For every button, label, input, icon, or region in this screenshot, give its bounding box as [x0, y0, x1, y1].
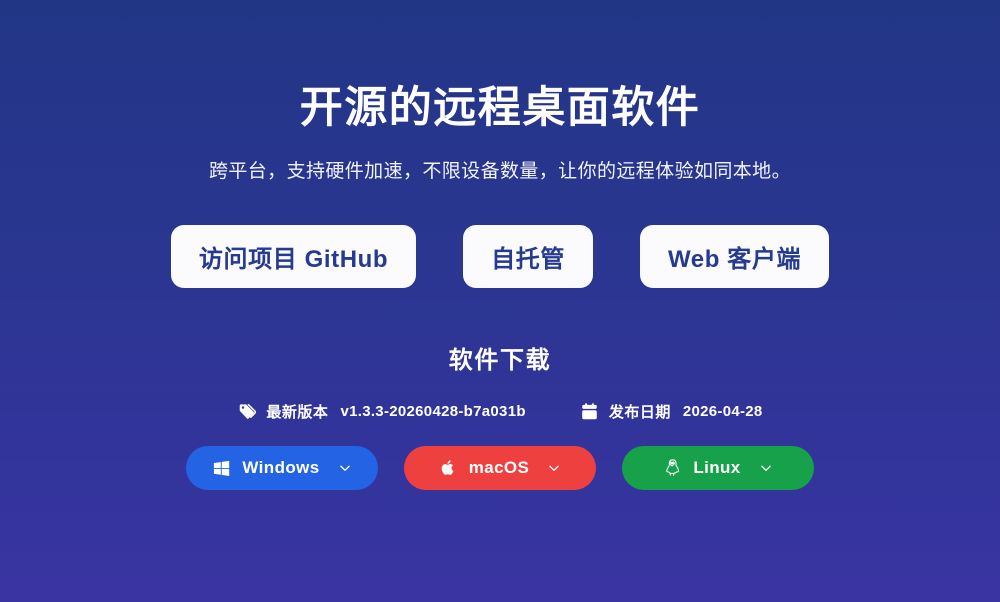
download-section-title: 软件下载	[449, 340, 551, 375]
download-windows-label: Windows	[242, 458, 319, 478]
os-download-row: Windows macOS	[186, 446, 814, 490]
self-host-button[interactable]: 自托管	[463, 225, 593, 288]
download-linux-button[interactable]: Linux	[622, 446, 814, 490]
date-label: 发布日期	[609, 401, 671, 422]
date-value: 2026-04-28	[683, 403, 763, 420]
hero-section: 开源的远程桌面软件 跨平台，支持硬件加速，不限设备数量，让你的远程体验如同本地。…	[0, 0, 1000, 602]
chevron-down-icon	[758, 460, 774, 476]
date-meta: 发布日期 2026-04-28	[580, 401, 763, 422]
tag-icon	[237, 402, 257, 422]
download-macos-button[interactable]: macOS	[404, 446, 596, 490]
chevron-down-icon	[337, 460, 353, 476]
version-meta: 最新版本 v1.3.3-20260428-b7a031b	[237, 401, 525, 422]
apple-icon	[438, 458, 458, 478]
linux-penguin-icon	[662, 458, 682, 478]
version-label: 最新版本	[266, 401, 328, 422]
download-linux-label: Linux	[693, 458, 740, 478]
chevron-down-icon	[546, 460, 562, 476]
windows-icon	[211, 458, 231, 478]
web-client-button[interactable]: Web 客户端	[640, 225, 829, 288]
calendar-icon	[580, 402, 600, 422]
download-windows-button[interactable]: Windows	[186, 446, 378, 490]
cta-button-row: 访问项目 GitHub 自托管 Web 客户端	[171, 225, 829, 288]
download-macos-label: macOS	[469, 458, 530, 478]
page-title: 开源的远程桌面软件	[300, 84, 701, 132]
version-value: v1.3.3-20260428-b7a031b	[340, 403, 525, 420]
page-subtitle: 跨平台，支持硬件加速，不限设备数量，让你的远程体验如同本地。	[209, 156, 791, 183]
release-meta-row: 最新版本 v1.3.3-20260428-b7a031b 发布日期 2026-0…	[237, 401, 762, 422]
github-button[interactable]: 访问项目 GitHub	[171, 225, 416, 288]
